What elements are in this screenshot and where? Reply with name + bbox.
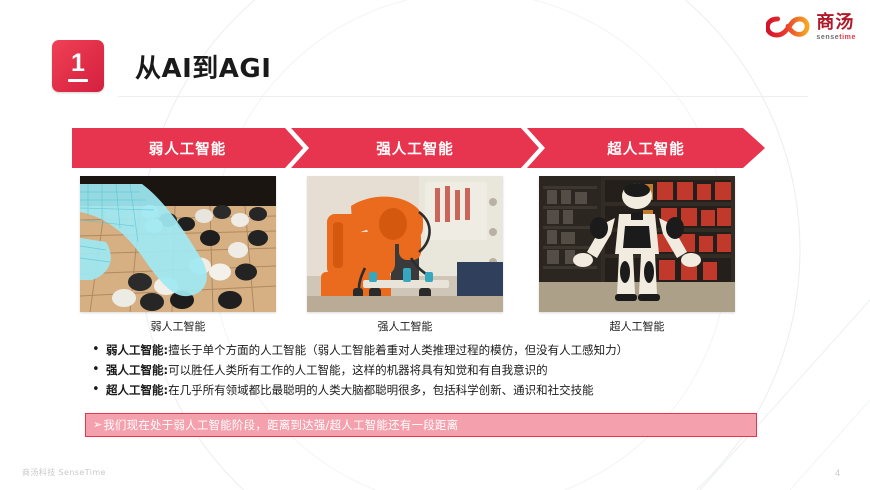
chevron-stage-3-label: 超人工智能 xyxy=(607,138,685,159)
photo-robot-arm xyxy=(307,176,503,312)
slide-canvas: 商汤 sensetime 1 从AI到AGI 弱人工智能 强人工智能 超人工智能 xyxy=(0,0,870,490)
bullet-marker-3: • xyxy=(92,380,106,400)
slide-title-row: 1 从AI到AGI xyxy=(52,40,271,92)
page-title: 从AI到AGI xyxy=(135,48,271,85)
footer-brand: 商汤科技 SenseTime xyxy=(22,467,106,478)
chevron-stage-2: 强人工智能 xyxy=(291,128,539,168)
title-divider xyxy=(118,96,808,97)
photo-caption-2: 强人工智能 xyxy=(307,318,503,334)
logo-english-name: sensetime xyxy=(816,34,856,41)
chevron-stage-1-label: 弱人工智能 xyxy=(149,138,227,159)
bullet-term-1: 弱人工智能: xyxy=(106,340,168,360)
chevron-stage-3: 超人工智能 xyxy=(527,128,765,168)
highlight-text: 我们现在处于弱人工智能阶段，距离到达强/超人工智能还有一段距离 xyxy=(103,417,458,433)
logo-chinese-name: 商汤 xyxy=(816,14,856,32)
bullet-marker-1: • xyxy=(92,340,106,360)
bullet-item-3: • 超人工智能: 在几乎所有领域都比最聪明的人类大脑都聪明很多，包括科学创新、通… xyxy=(92,380,792,400)
badge-underline xyxy=(68,79,88,82)
section-number-badge: 1 xyxy=(52,40,104,92)
sensetime-logo: 商汤 sensetime xyxy=(766,10,856,44)
progression-chevron-band: 弱人工智能 强人工智能 超人工智能 xyxy=(72,128,765,168)
photo-humanoid-robot xyxy=(539,176,735,312)
section-number: 1 xyxy=(71,51,85,76)
chevron-stage-2-label: 强人工智能 xyxy=(376,138,454,159)
logo-en-sense: sense xyxy=(816,34,839,41)
chevron-stage-1: 弱人工智能 xyxy=(72,128,303,168)
page-number: 4 xyxy=(835,468,840,478)
bullet-desc-1: 擅长于单个方面的人工智能（弱人工智能着重对人类推理过程的模仿，但没有人工感知力） xyxy=(168,340,628,360)
bullet-item-2: • 强人工智能: 可以胜任人类所有工作的人工智能，这样的机器将具有知觉和有自我意… xyxy=(92,360,792,380)
photo-row xyxy=(80,176,760,316)
photo-caption-1: 弱人工智能 xyxy=(80,318,276,334)
arrow-bullet-icon: ➢ xyxy=(93,420,102,431)
bullet-list: • 弱人工智能: 擅长于单个方面的人工智能（弱人工智能着重对人类推理过程的模仿，… xyxy=(92,340,792,400)
bullet-desc-3: 在几乎所有领域都比最聪明的人类大脑都聪明很多，包括科学创新、通识和社交技能 xyxy=(168,380,594,400)
bullet-marker-2: • xyxy=(92,360,106,380)
highlight-callout: ➢ 我们现在处于弱人工智能阶段，距离到达强/超人工智能还有一段距离 xyxy=(85,413,757,437)
bullet-desc-2: 可以胜任人类所有工作的人工智能，这样的机器将具有知觉和有自我意识的 xyxy=(168,360,548,380)
logo-en-time: time xyxy=(839,34,856,41)
infinity-loop-icon xyxy=(766,14,810,40)
bullet-item-1: • 弱人工智能: 擅长于单个方面的人工智能（弱人工智能着重对人类推理过程的模仿，… xyxy=(92,340,792,360)
bullet-term-2: 强人工智能: xyxy=(106,360,168,380)
bullet-term-3: 超人工智能: xyxy=(106,380,168,400)
photo-caption-3: 超人工智能 xyxy=(539,318,735,334)
photo-go-board xyxy=(80,176,276,312)
